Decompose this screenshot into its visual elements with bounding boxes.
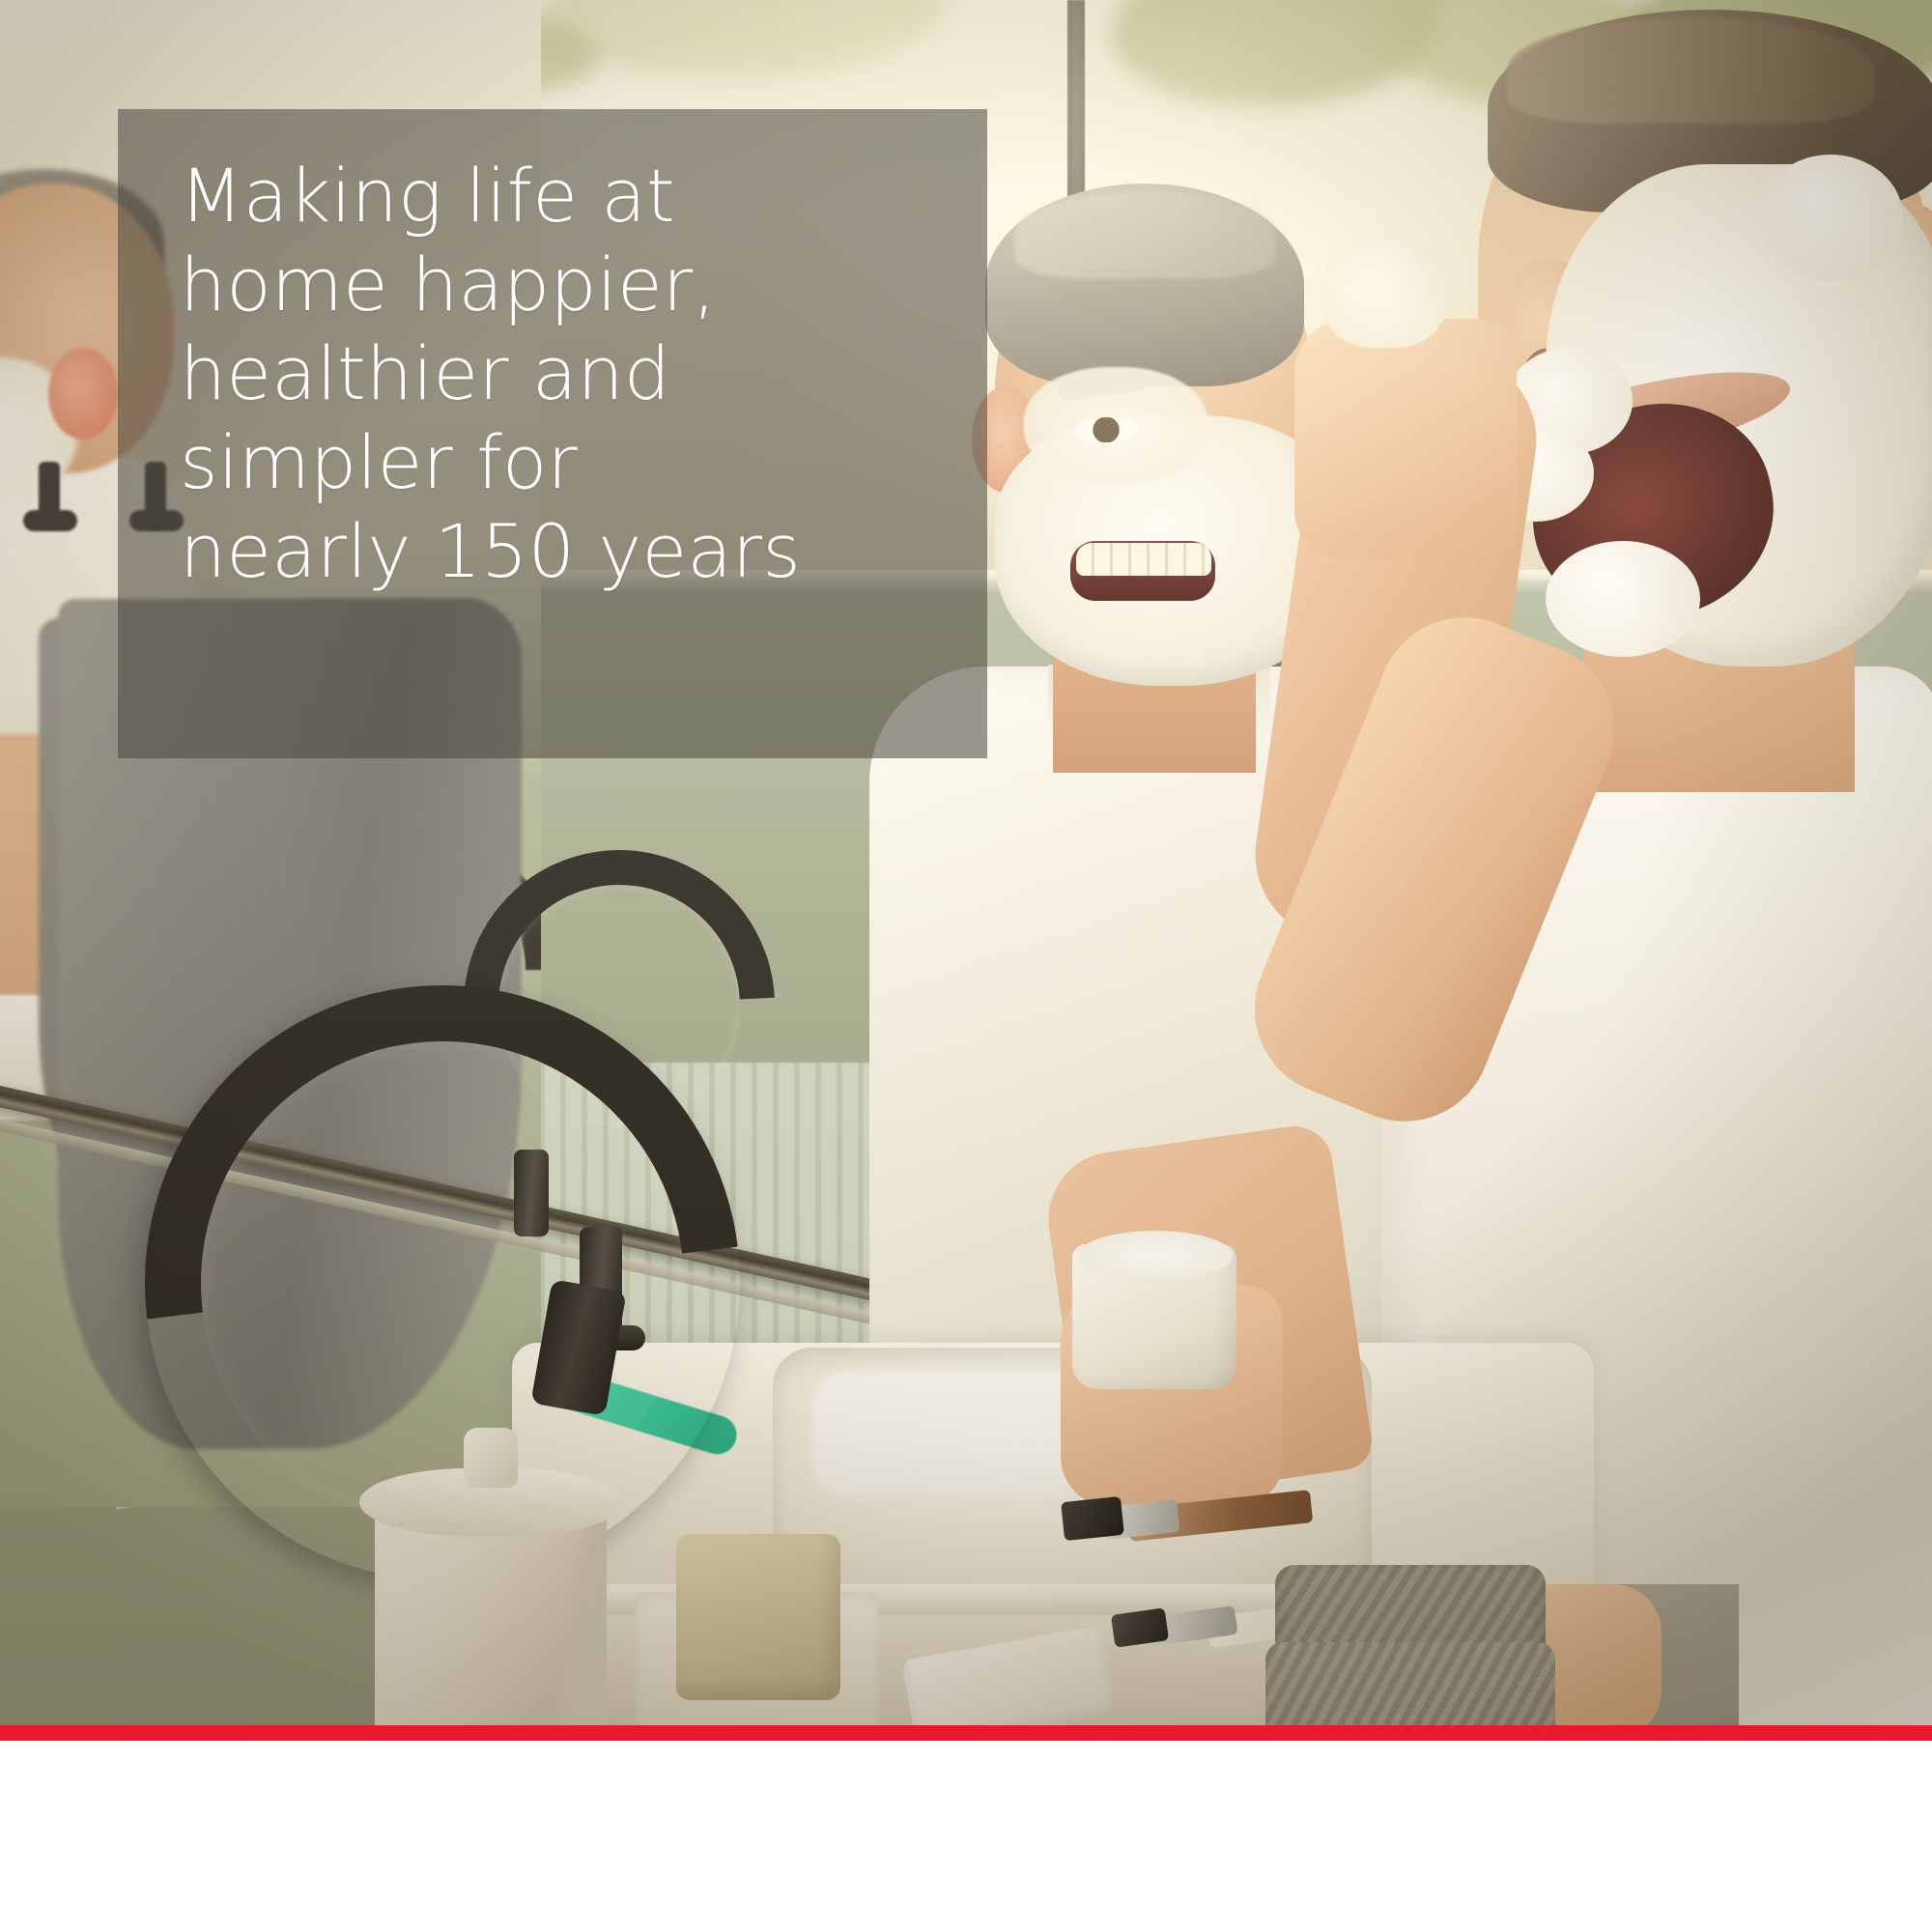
headline-line-3: healthier and [180,329,943,418]
razor-head-icon [1061,1496,1124,1541]
reflected-ear [48,348,118,440]
headline-line-1: Making life at [180,152,943,241]
headline-line-4: simpler for [180,418,943,507]
robe-hook-icon [23,510,77,531]
shaving-foam [1078,1231,1233,1281]
man-hair [1014,191,1275,278]
man-teeth [1076,543,1211,576]
man-eye [1074,417,1138,442]
canister-knob [464,1428,518,1488]
brand-accent-bar [0,1725,1932,1741]
headline-line-5: nearly 150 years [180,507,943,596]
ad-creative: Making life at home happier, healthier a… [0,0,1932,1932]
headline-line-2: home happier, [180,241,943,329]
headline-overlay-panel: Making life at home happier, healthier a… [118,109,987,758]
shaving-foam [1546,541,1700,657]
headline-text: Making life at home happier, healthier a… [180,152,943,596]
shaving-brush-icon [1321,232,1447,348]
boy-hand [1294,319,1517,560]
boy-hair [1507,17,1874,124]
soap-bar [676,1534,840,1700]
folded-towel [1265,1642,1555,1725]
shaving-foam [1758,155,1903,280]
brand-footer: American Standard [0,1741,1932,1932]
